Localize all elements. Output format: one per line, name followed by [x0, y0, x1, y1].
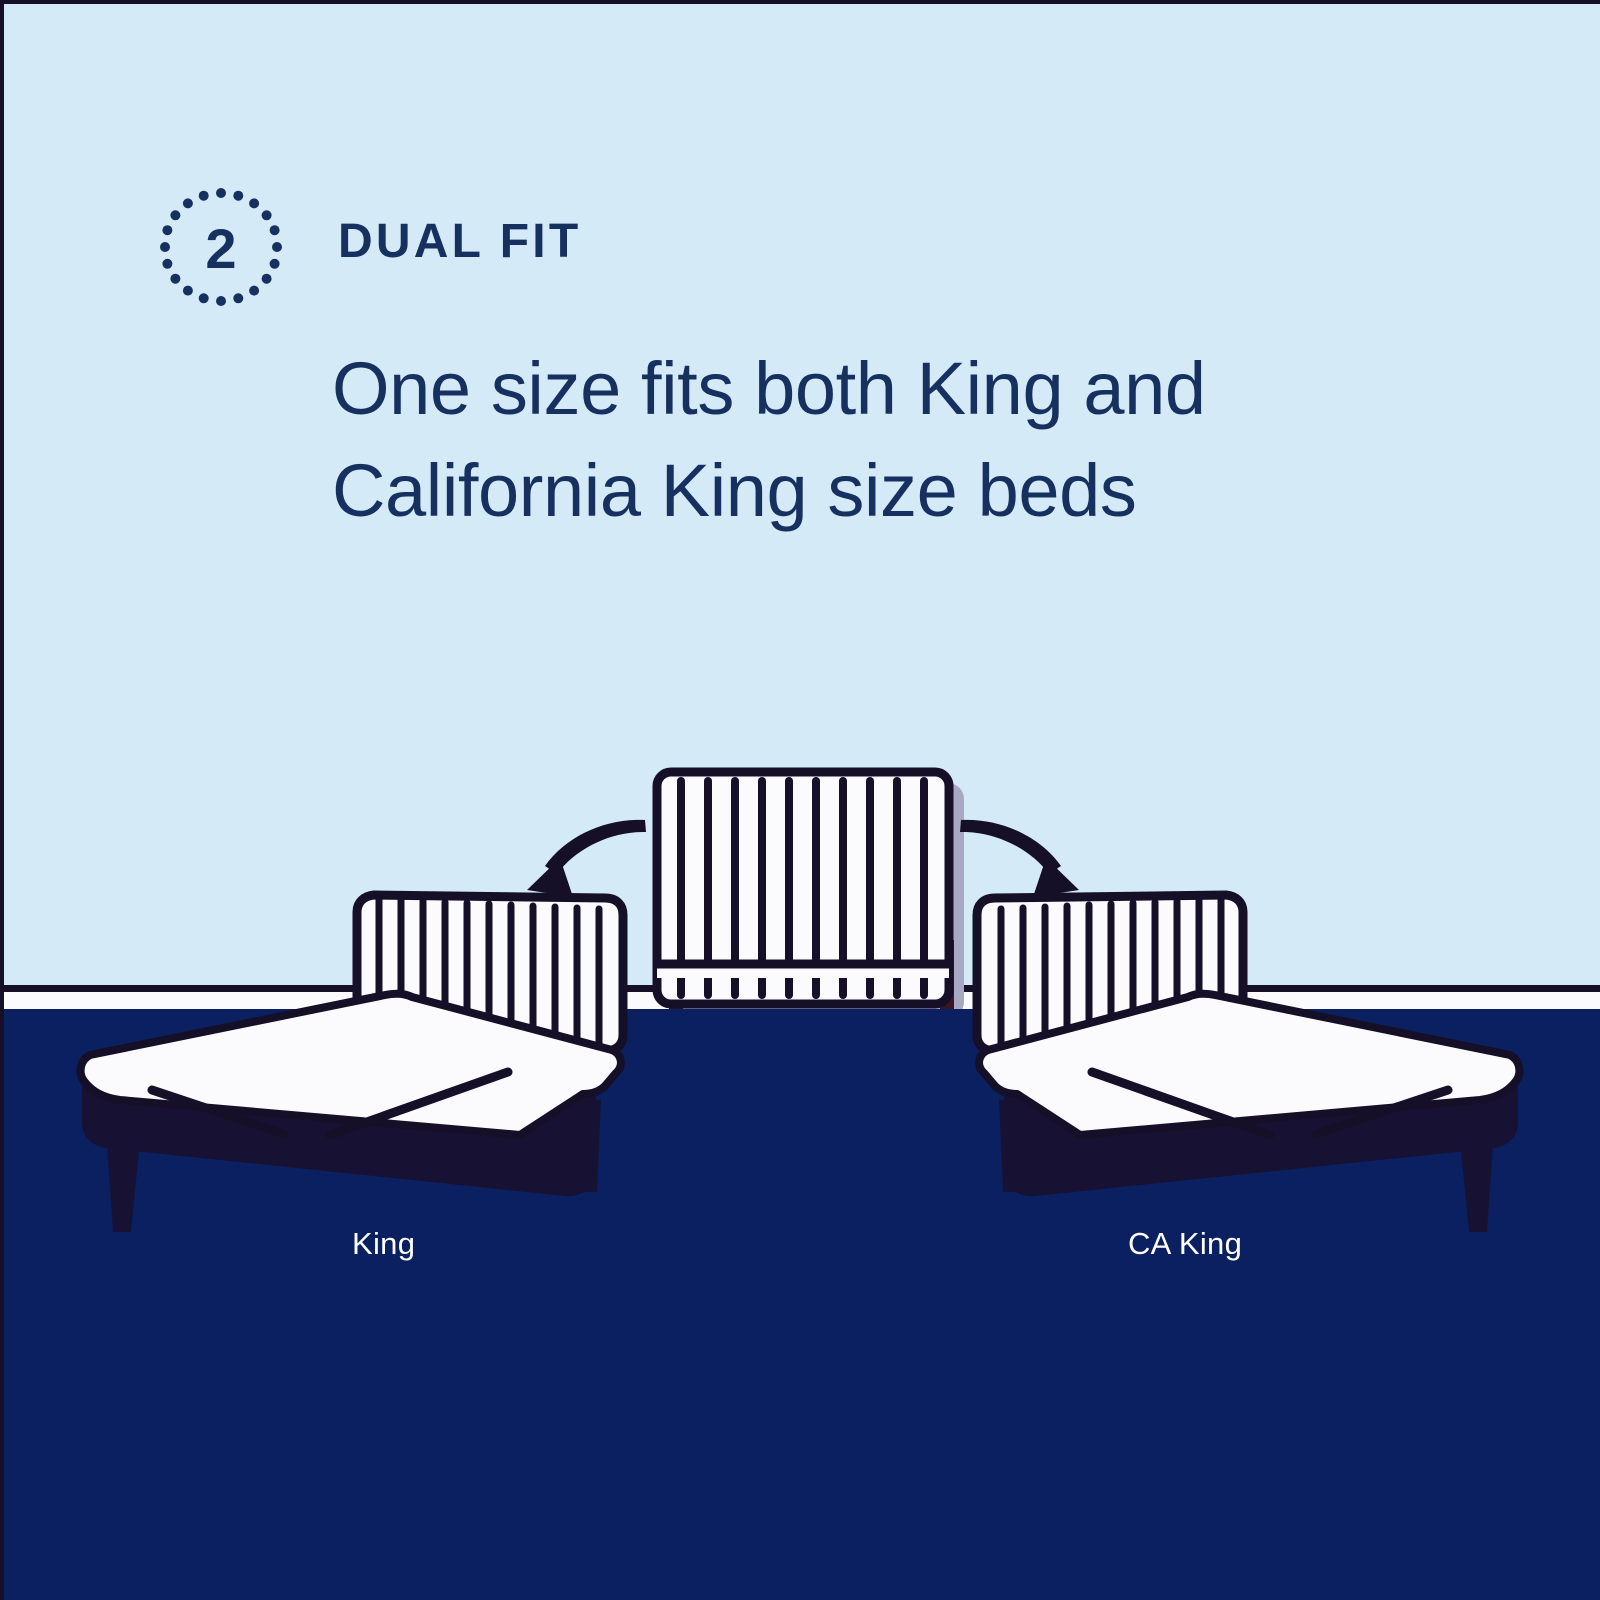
king-bed-label: King: [352, 1228, 415, 1259]
ca-king-bed: [977, 895, 1519, 1232]
dual-fit-headboard: [657, 772, 964, 1018]
ca-king-bed-label: CA King: [1128, 1228, 1242, 1259]
arrow-to-king: [527, 820, 646, 897]
arrow-to-ca-king: [960, 820, 1079, 897]
king-bed: [81, 895, 623, 1232]
infographic-canvas: 2 DUAL FIT One size fits both King and C…: [0, 0, 1600, 1600]
bedroom-illustration: [0, 0, 1600, 1600]
